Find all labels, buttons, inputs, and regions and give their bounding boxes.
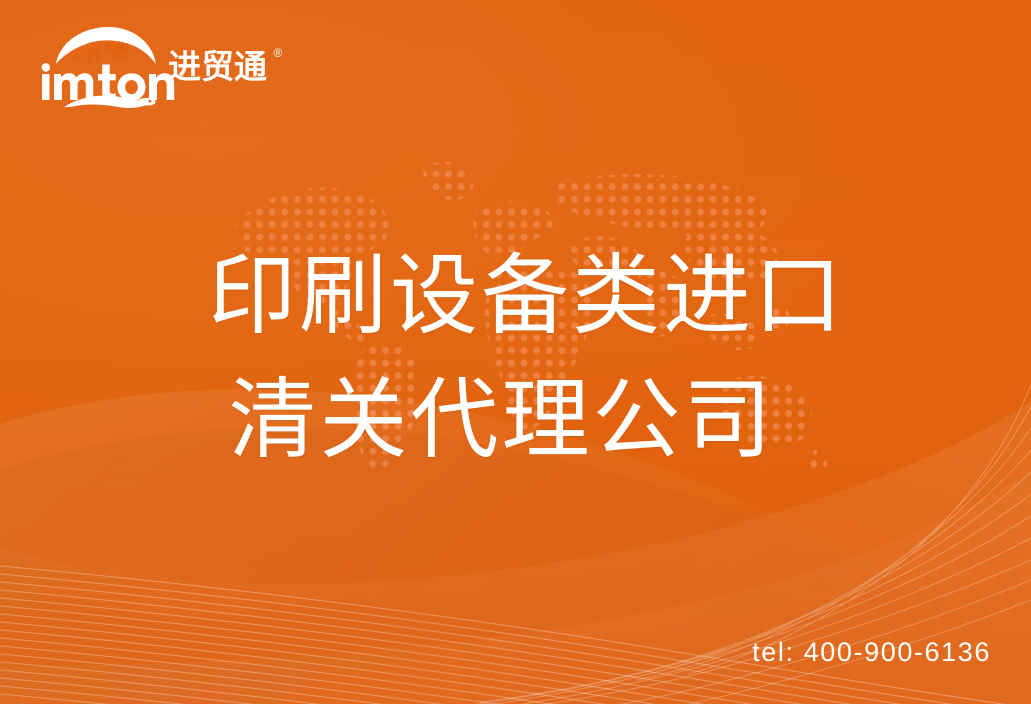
headline-block: 印刷设备类进口 清关代理公司 xyxy=(0,234,1031,482)
headline-line-1: 印刷设备类进口 xyxy=(22,234,1031,358)
telephone-text[interactable]: tel: 400-900-6136 xyxy=(752,637,991,668)
promo-banner: 进贸通 ® 印刷设备类进口 清关代理公司 tel: 400-900-6136 xyxy=(0,0,1031,704)
logo-chinese-name-text: 进贸通 xyxy=(168,45,267,89)
registered-trademark-icon: ® xyxy=(273,45,282,61)
headline-line-2: 清关代理公司 xyxy=(0,358,1031,482)
logo-wordmark-imton xyxy=(42,63,175,100)
logo-chinese-block[interactable]: 进贸通 ® xyxy=(168,45,378,89)
swoosh-icon xyxy=(64,95,156,107)
globe-dome-icon xyxy=(56,27,156,67)
